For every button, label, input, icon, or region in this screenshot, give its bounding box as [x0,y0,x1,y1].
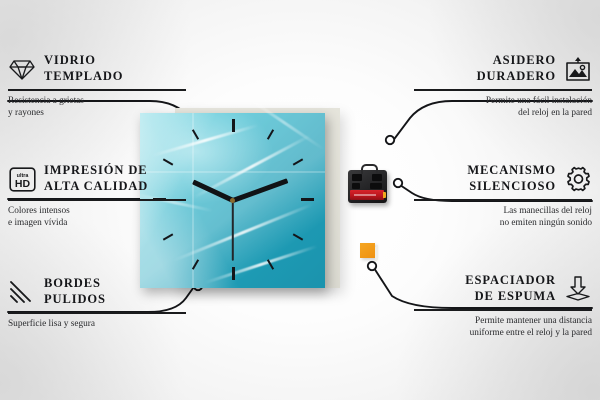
clock-tick-4 [292,233,303,240]
movement-slot [352,174,362,181]
feather-streak [243,94,324,150]
feather-streak [204,245,317,284]
feature-vidrio-templado: VIDRIO TEMPLADO Resistencia a grietas y … [8,52,186,120]
feature-espaciador-de-espuma: ESPACIADOR DE ESPUMA Permite mantener un… [414,272,592,340]
feature-header: MECANISMO SILENCIOSO [414,162,592,196]
clock-tick-12 [232,119,235,132]
feature-divider [8,199,186,201]
feature-header: VIDRIO TEMPLADO [8,52,186,86]
feature-divider [8,312,186,314]
feature-divider [8,89,186,91]
battery-positive-cap [383,192,386,198]
infographic-canvas: VIDRIO TEMPLADO Resistencia a grietas y … [0,0,600,400]
movement-slot [370,183,382,189]
clock-center-hub [230,198,235,203]
feature-title: ASIDERO DURADERO [477,53,556,84]
feature-description: Permite mantener una distancia uniforme … [414,315,592,340]
feature-title: ESPACIADOR DE ESPUMA [465,273,556,304]
ultra-hd-large-label: HD [14,178,30,190]
feature-description: Superficie lisa y segura [8,318,186,331]
ultra-hd-badge-icon: ultra HD [8,165,36,193]
feature-header: ASIDERO DURADERO [414,52,592,86]
connector-dot-asidero [386,136,394,144]
feature-divider [414,199,592,201]
feather-streak [152,124,259,157]
feature-title: MECANISMO SILENCIOSO [467,163,556,194]
feature-header: BORDES PULIDOS [8,275,186,309]
feature-title: BORDES PULIDOS [44,276,106,307]
polished-edges-icon [8,278,36,306]
battery-label-band [354,194,376,196]
clock-second-hand [232,201,234,261]
clock-tick-2 [292,158,303,165]
movement-hanging-tab [361,164,378,174]
feature-divider [414,309,592,311]
feature-divider [414,89,592,91]
feature-bordes-pulidos: BORDES PULIDOS Superficie lisa y segura [8,275,186,330]
feature-title: VIDRIO TEMPLADO [44,53,123,84]
feature-impresion-alta-calidad: ultra HD IMPRESIÓN DE ALTA CALIDAD Color… [8,162,186,230]
feature-description: Colores intensos e imagen vívida [8,205,186,230]
framed-picture-hanger-icon [564,55,592,83]
movement-slot [372,174,382,181]
feature-mecanismo-silencioso: MECANISMO SILENCIOSO Las manecillas del … [414,162,592,230]
feature-description: Las manecillas del reloj no emiten ningú… [414,205,592,230]
connector-dot-mecanismo [394,179,402,187]
glass-pane-seam-vertical [192,113,194,288]
gear-icon [564,165,592,193]
clock-tick-1 [266,129,273,140]
feature-header: ultra HD IMPRESIÓN DE ALTA CALIDAD [8,162,186,196]
connector-dot-espaciador [368,262,376,270]
clock-tick-6 [232,267,235,280]
aa-battery [350,190,384,200]
feature-title: IMPRESIÓN DE ALTA CALIDAD [44,163,148,194]
feature-description: Permite una fácil instalación del reloj … [414,95,592,120]
feature-description: Resistencia a grietas y rayones [8,95,186,120]
clock-minute-hand [232,178,288,203]
movement-slot [352,183,360,189]
foam-spacer-pad [360,243,375,258]
diamond-icon [8,55,36,83]
press-down-foam-icon [564,275,592,303]
feature-asidero-duradero: ASIDERO DURADERO Permite una fácil insta… [414,52,592,120]
feature-header: ESPACIADOR DE ESPUMA [414,272,592,306]
clock-tick-8 [162,233,173,240]
clock-tick-3 [301,198,314,201]
clock-hour-hand [192,180,234,203]
clock-movement [348,170,387,203]
